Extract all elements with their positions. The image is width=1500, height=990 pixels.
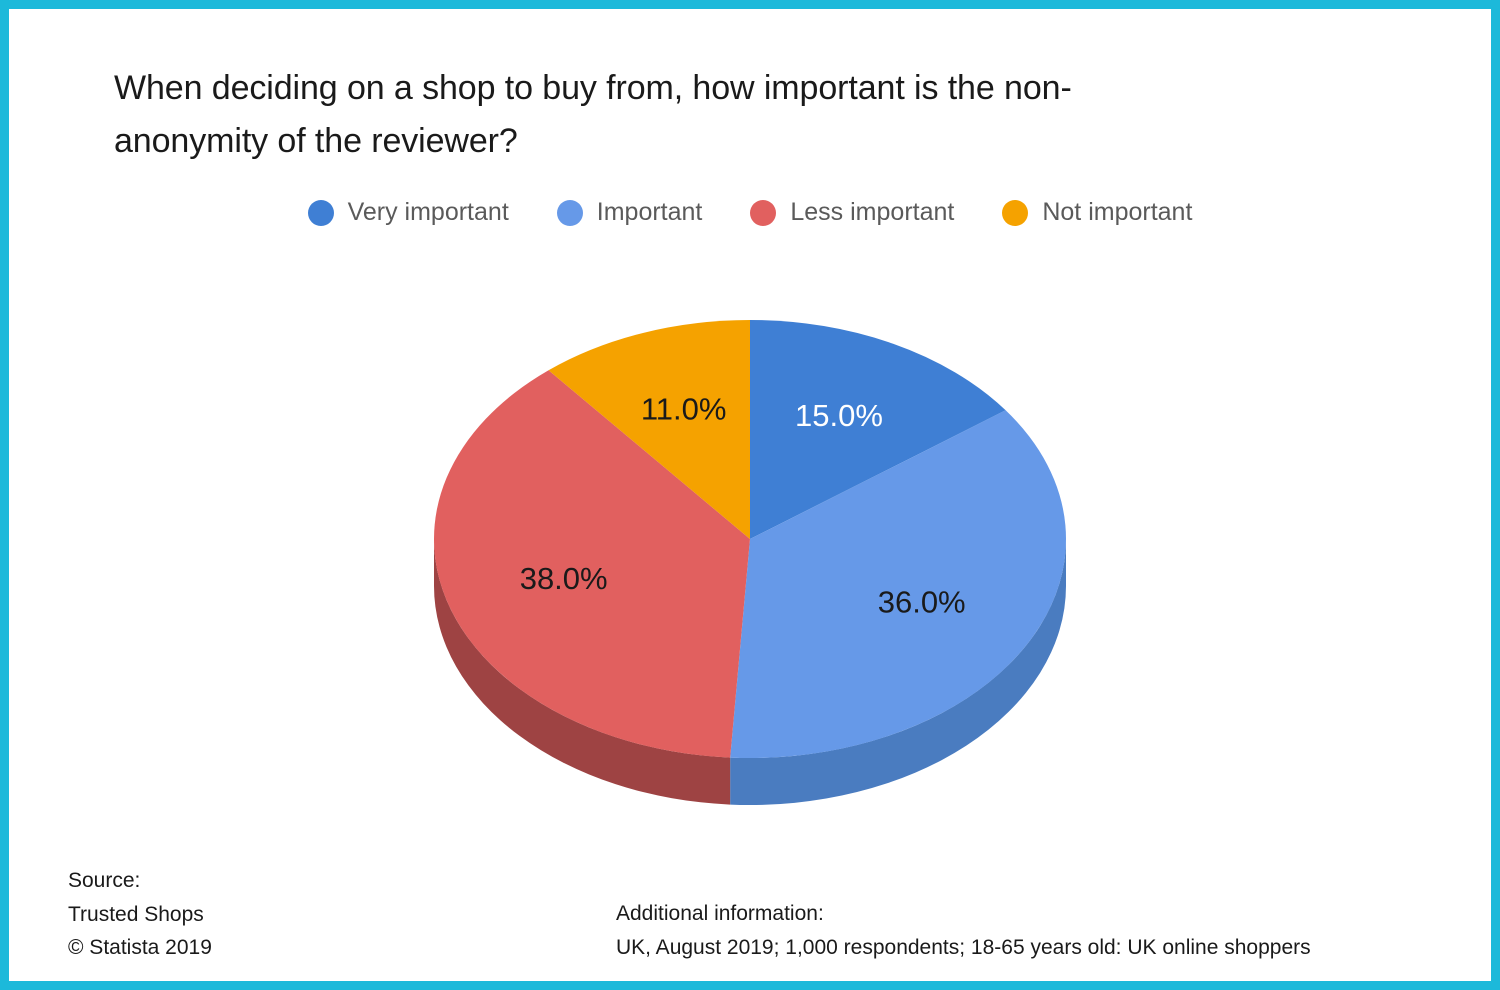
legend-item-label: Less important xyxy=(790,198,954,227)
legend-item-not-important[interactable]: Not important xyxy=(1002,198,1192,227)
pie-slice-label: 38.0% xyxy=(520,561,608,596)
pie-slice-label: 36.0% xyxy=(878,585,966,620)
chart-title-line-2: anonymity of the reviewer? xyxy=(114,115,1404,168)
legend-swatch-icon xyxy=(308,200,334,226)
additional-info-text: UK, August 2019; 1,000 respondents; 18-6… xyxy=(616,931,1311,965)
frame-border-top xyxy=(0,0,1500,9)
chart-frame: When deciding on a shop to buy from, how… xyxy=(0,0,1500,990)
copyright-text: © Statista 2019 xyxy=(68,931,212,965)
legend-item-less-important[interactable]: Less important xyxy=(750,198,954,227)
pie-slice-label: 15.0% xyxy=(795,398,883,433)
legend-item-label: Important xyxy=(597,198,703,227)
frame-border-bottom xyxy=(0,981,1500,990)
legend-item-important[interactable]: Important xyxy=(557,198,703,227)
legend-swatch-icon xyxy=(750,200,776,226)
pie-top-faces xyxy=(434,320,1066,758)
pie-slice-label: 11.0% xyxy=(641,391,727,426)
additional-info-heading: Additional information: xyxy=(616,897,1311,931)
pie-chart-area: 15.0%36.0%38.0%11.0% xyxy=(0,300,1500,845)
chart-legend: Very important Important Less important … xyxy=(0,198,1500,227)
legend-item-very-important[interactable]: Very important xyxy=(308,198,509,227)
pie-chart-svg: 15.0%36.0%38.0%11.0% xyxy=(400,300,1100,845)
chart-title-line-1: When deciding on a shop to buy from, how… xyxy=(114,62,1404,115)
source-name: Trusted Shops xyxy=(68,898,212,932)
chart-title: When deciding on a shop to buy from, how… xyxy=(114,62,1404,167)
legend-item-label: Not important xyxy=(1042,198,1192,227)
legend-swatch-icon xyxy=(1002,200,1028,226)
legend-item-label: Very important xyxy=(348,198,509,227)
additional-information-block: Additional information: UK, August 2019;… xyxy=(616,897,1311,965)
legend-swatch-icon xyxy=(557,200,583,226)
source-block: Source: Trusted Shops © Statista 2019 xyxy=(68,864,212,965)
source-heading: Source: xyxy=(68,864,212,898)
